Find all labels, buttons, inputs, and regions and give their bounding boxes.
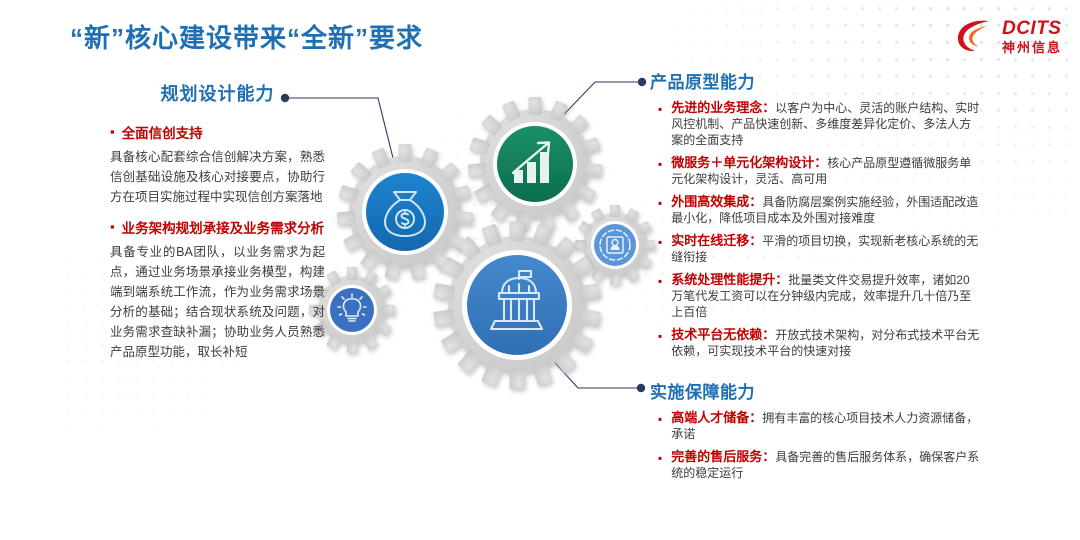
list-item: ▪ 完善的售后服务：具备完善的售后服务体系，确保客户系统的稳定运行 [650, 449, 985, 481]
page-title: “新”核心建设带来“全新”要求 [70, 18, 423, 55]
list-item-separator: ： [762, 327, 775, 342]
bullet-dot-icon: ▪ [110, 123, 115, 140]
list-item-label: 完善的售后服务 [671, 449, 762, 464]
list-item-label: 微服务＋单元化架构设计 [671, 155, 814, 170]
list-item: ▪ 系统处理性能提升：批量类文件交易提升效率，诸如20万笔代发工资可以在分钟级内… [650, 272, 980, 320]
group-heading: 实施保障能力 [650, 378, 985, 403]
list-item: ▪ 实时在线迁移：平滑的项目切换，实现新老核心系统的无缝衔接 [650, 233, 980, 265]
group-heading: 产品原型能力 [650, 68, 980, 93]
logo-text-cn: 神州信息 [1002, 41, 1062, 54]
list-item-text: 系统处理性能提升：批量类文件交易提升效率，诸如20万笔代发工资可以在分钟级内完成… [671, 272, 980, 320]
list-item-text: 先进的业务理念：以客户为中心、灵活的账户结构、实时风控机制、产品快速创新、多维度… [671, 100, 980, 148]
gear-growth [468, 97, 603, 231]
slide-canvas: “新”核心建设带来“全新”要求 DCITS 神州信息 [0, 0, 1080, 540]
left-bullet-label: 全面信创支持 [122, 124, 203, 144]
left-column: 规划设计能力 ▪ 全面信创支持 具备核心配套综合信创解决方案，熟悉信创基础设施及… [110, 80, 325, 374]
list-item-label: 技术平台无依赖 [671, 327, 762, 342]
list-item-label: 外围高效集成 [671, 194, 749, 209]
list-item-text: 外围高效集成：具备防腐层案例实施经验，外围适配改造最小化，降低项目成本及外围对接… [671, 194, 980, 226]
list-item-separator: ： [762, 100, 775, 115]
left-column-heading: 规划设计能力 [110, 80, 325, 106]
bullet-dot-icon: ▪ [658, 450, 662, 466]
list-item-label: 实时在线迁移 [671, 233, 749, 248]
list-item-separator: ： [814, 155, 827, 170]
list-item-text: 高端人才储备：拥有丰富的核心项目技术人力资源储备，承诺 [671, 410, 985, 442]
bullet-dot-icon: ▪ [658, 411, 662, 427]
left-bullet-item: ▪ 全面信创支持 具备核心配套综合信创解决方案，熟悉信创基础设施及核心对接要点，… [110, 124, 325, 207]
left-bullet-body: 具备核心配套综合信创解决方案，熟悉信创基础设施及核心对接要点，协助行方在项目实施… [110, 147, 325, 207]
bullet-dot-icon: ▪ [658, 156, 662, 172]
list-item-separator: ： [775, 272, 788, 287]
list-item: ▪ 微服务＋单元化架构设计：核心产品原型遵循微服务单元化架构设计，灵活、高可用 [650, 155, 980, 187]
list-item: ▪ 先进的业务理念：以客户为中心、灵活的账户结构、实时风控机制、产品快速创新、多… [650, 100, 980, 148]
list-item-separator: ： [749, 233, 762, 248]
list-item: ▪ 技术平台无依赖：开放式技术架构，对分布式技术平台无依赖，可实现技术平台的快速… [650, 327, 980, 359]
list-item-separator: ： [749, 194, 762, 209]
bullet-dot-icon: ▪ [658, 234, 662, 250]
group-product-capability: 产品原型能力 ▪ 先进的业务理念：以客户为中心、灵活的账户结构、实时风控机制、产… [650, 68, 980, 366]
list-item-text: 微服务＋单元化架构设计：核心产品原型遵循微服务单元化架构设计，灵活、高可用 [671, 155, 980, 187]
list-item-label: 高端人才储备 [671, 410, 749, 425]
bullet-dot-icon: ▪ [658, 101, 662, 117]
list-item-text: 实时在线迁移：平滑的项目切换，实现新老核心系统的无缝衔接 [671, 233, 980, 265]
list-item: ▪ 外围高效集成：具备防腐层案例实施经验，外围适配改造最小化，降低项目成本及外围… [650, 194, 980, 226]
gear-government [433, 221, 601, 389]
bullet-dot-icon: ▪ [658, 195, 662, 211]
list-item-label: 先进的业务理念 [671, 100, 762, 115]
left-bullet-item: ▪ 业务架构规划承接及业务需求分析 具备专业的BA团队，以业务需求为起点，通过业… [110, 219, 325, 362]
list-item-separator: ： [762, 449, 775, 464]
list-item-label: 系统处理性能提升 [671, 272, 775, 287]
left-bullet-label: 业务架构规划承接及业务需求分析 [122, 219, 325, 239]
red-swoosh-icon [956, 17, 996, 55]
list-item-text: 完善的售后服务：具备完善的售后服务体系，确保客户系统的稳定运行 [671, 449, 985, 481]
bullet-dot-icon: ▪ [658, 328, 662, 344]
bullet-dot-icon: ▪ [658, 273, 662, 289]
logo-text-en: DCITS [1002, 19, 1062, 38]
left-bullet-body: 具备专业的BA团队，以业务需求为起点，通过业务场景承接业务模型，构建端到端系统工… [110, 242, 325, 362]
bullet-dot-icon: ▪ [110, 218, 115, 235]
list-item: ▪ 高端人才储备：拥有丰富的核心项目技术人力资源储备，承诺 [650, 410, 985, 442]
list-item-separator: ： [749, 410, 762, 425]
list-item-text: 技术平台无依赖：开放式技术架构，对分布式技术平台无依赖，可实现技术平台的快速对接 [671, 327, 980, 359]
group-implementation-capability: 实施保障能力 ▪ 高端人才储备：拥有丰富的核心项目技术人力资源储备，承诺 ▪ 完… [650, 378, 985, 488]
brand-logo: DCITS 神州信息 [956, 14, 1062, 58]
interlocking-gears-illustration [300, 60, 660, 410]
